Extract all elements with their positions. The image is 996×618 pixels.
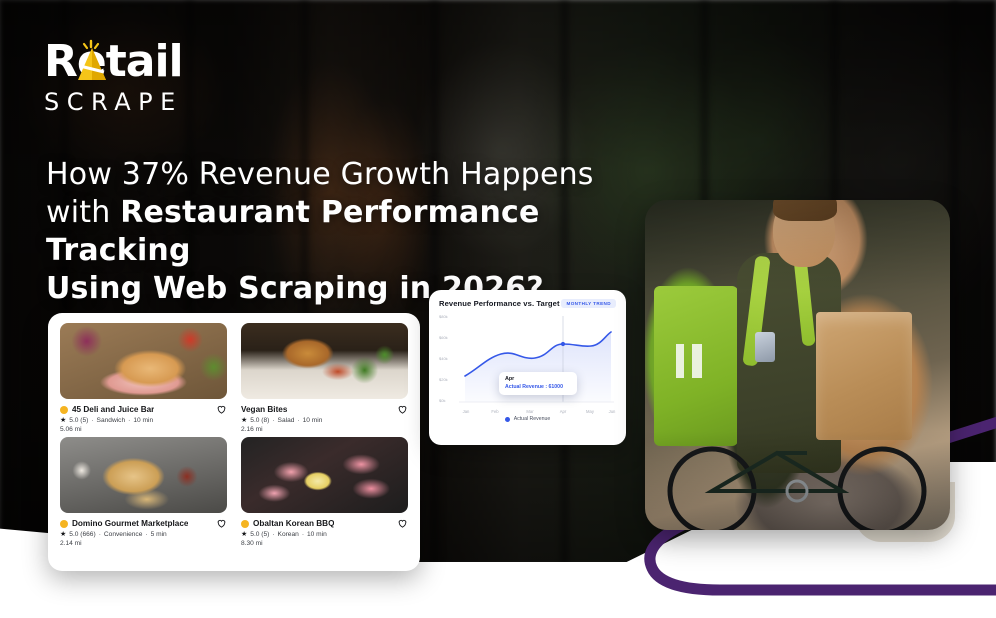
- restaurant-thumbnail: [241, 323, 408, 399]
- y-tick-label: $20k: [439, 377, 448, 382]
- restaurant-name: Obaltan Korean BBQ: [253, 519, 334, 528]
- x-tick-label: Apr: [560, 409, 567, 414]
- verified-badge-icon: [60, 406, 68, 414]
- party-hat-icon: [70, 38, 114, 86]
- x-tick-label: Mar: [526, 409, 533, 414]
- photo-shading: [645, 200, 950, 530]
- restaurant-list-card: 45 Deli and Juice Bar ★ 5.0 (5) · Sandwi…: [48, 313, 420, 571]
- headline-line-2-light: with: [46, 195, 120, 230]
- tooltip-label: Apr: [505, 376, 571, 382]
- restaurant-meta: ★ 5.0 (5) · Korean · 10 min: [241, 531, 408, 538]
- restaurant-name: Domino Gourmet Marketplace: [72, 519, 188, 528]
- restaurant-meta: ★ 5.0 (5) · Sandwich · 10 min: [60, 417, 227, 424]
- star-icon: ★: [60, 417, 66, 424]
- restaurant-eta: 10 min: [307, 531, 327, 538]
- revenue-area-chart: [439, 314, 616, 414]
- x-tick-label: May: [586, 409, 594, 414]
- restaurant-name-wrap: Domino Gourmet Marketplace: [60, 519, 188, 528]
- legend-label: Actual Revenue: [514, 416, 551, 422]
- restaurant-name: 45 Deli and Juice Bar: [72, 405, 154, 414]
- star-icon: ★: [241, 417, 247, 424]
- restaurant-meta: ★ 5.0 (666) · Convenience · 5 min: [60, 531, 227, 538]
- chart-header: Revenue Performance vs. Target MONTHLY T…: [439, 299, 616, 308]
- delivery-courier-photo: [645, 200, 950, 530]
- meta-separator-1: ·: [99, 531, 101, 538]
- restaurant-rating: 5.0 (5): [250, 531, 269, 538]
- restaurant-eta: 10 min: [133, 417, 153, 424]
- list-item[interactable]: Obaltan Korean BBQ ★ 5.0 (5) · Korean · …: [241, 437, 408, 547]
- restaurant-eta: 5 min: [151, 531, 167, 538]
- restaurant-header: Obaltan Korean BBQ: [241, 518, 408, 529]
- meta-separator-2: ·: [145, 531, 147, 538]
- x-tick-label: Feb: [491, 409, 498, 414]
- heart-icon[interactable]: [216, 404, 227, 415]
- restaurant-category: Convenience: [104, 531, 143, 538]
- meta-separator-1: ·: [272, 531, 274, 538]
- chart-plot-area: $80k $60k $40k $20k $0k Jan Feb Mar Apr …: [439, 314, 616, 414]
- restaurant-meta: ★ 5.0 (8) · Salad · 10 min: [241, 417, 408, 424]
- restaurant-category: Korean: [278, 531, 299, 538]
- restaurant-thumbnail: [241, 437, 408, 513]
- legend-dot-icon: [505, 417, 510, 422]
- monthly-trend-badge: MONTHLY TREND: [561, 299, 616, 308]
- headline-line-2-bold: Restaurant Performance Tracking: [46, 195, 540, 268]
- logo-subtitle: SCRAPE: [44, 88, 224, 116]
- verified-badge-icon: [241, 520, 249, 528]
- banner-stage: Retail SCRAPE How 37% Revenue Growth Hap…: [0, 0, 996, 618]
- restaurant-thumbnail: [60, 437, 227, 513]
- headline-line-1: How 37% Revenue Growth Happens: [46, 156, 626, 194]
- list-item[interactable]: Vegan Bites ★ 5.0 (8) · Salad · 10 min 2…: [241, 323, 408, 433]
- star-icon: ★: [60, 531, 66, 538]
- restaurant-rating: 5.0 (5): [69, 417, 88, 424]
- y-tick-label: $60k: [439, 335, 448, 340]
- y-tick-label: $40k: [439, 356, 448, 361]
- meta-separator-2: ·: [297, 417, 299, 424]
- x-tick-label: Jan: [463, 409, 470, 414]
- restaurant-category: Sandwich: [97, 417, 126, 424]
- restaurant-header: Vegan Bites: [241, 404, 408, 415]
- y-tick-label: $80k: [439, 314, 448, 319]
- chart-legend: Actual Revenue: [439, 416, 616, 422]
- restaurant-distance: 8.30 mi: [241, 540, 408, 547]
- chart-title: Revenue Performance vs. Target: [439, 299, 560, 308]
- restaurant-distance: 2.14 mi: [60, 540, 227, 547]
- list-item[interactable]: 45 Deli and Juice Bar ★ 5.0 (5) · Sandwi…: [60, 323, 227, 433]
- restaurant-eta: 10 min: [303, 417, 323, 424]
- x-tick-label: Jun: [609, 409, 616, 414]
- star-icon: ★: [241, 531, 247, 538]
- list-item[interactable]: Domino Gourmet Marketplace ★ 5.0 (666) ·…: [60, 437, 227, 547]
- heart-icon[interactable]: [216, 518, 227, 529]
- verified-badge-icon: [60, 520, 68, 528]
- headline-line-1-text: How 37% Revenue Growth Happens: [46, 157, 594, 192]
- restaurant-header: Domino Gourmet Marketplace: [60, 518, 227, 529]
- restaurant-distance: 2.16 mi: [241, 426, 408, 433]
- restaurant-thumbnail: [60, 323, 227, 399]
- restaurant-rating: 5.0 (666): [69, 531, 95, 538]
- revenue-chart-card: Revenue Performance vs. Target MONTHLY T…: [429, 290, 626, 445]
- logo-wordmark-row: Retail: [44, 36, 224, 88]
- brand-logo[interactable]: Retail SCRAPE: [44, 36, 224, 118]
- heart-icon[interactable]: [397, 404, 408, 415]
- restaurant-rating: 5.0 (8): [250, 417, 269, 424]
- restaurant-category: Salad: [278, 417, 295, 424]
- restaurant-name-wrap: Obaltan Korean BBQ: [241, 519, 334, 528]
- restaurant-grid: 45 Deli and Juice Bar ★ 5.0 (5) · Sandwi…: [60, 323, 408, 547]
- tooltip-value: Actual Revenue : 61000: [505, 384, 571, 390]
- headline-line-2: with Restaurant Performance Tracking: [46, 194, 626, 270]
- meta-separator-1: ·: [91, 417, 93, 424]
- restaurant-name: Vegan Bites: [241, 405, 287, 414]
- restaurant-name-wrap: Vegan Bites: [241, 405, 287, 414]
- restaurant-distance: 5.06 mi: [60, 426, 227, 433]
- restaurant-name-wrap: 45 Deli and Juice Bar: [60, 405, 154, 414]
- meta-separator-2: ·: [302, 531, 304, 538]
- page-title: How 37% Revenue Growth Happens with Rest…: [46, 156, 626, 308]
- y-tick-label: $0k: [439, 398, 445, 403]
- meta-separator-2: ·: [128, 417, 130, 424]
- meta-separator-1: ·: [272, 417, 274, 424]
- heart-icon[interactable]: [397, 518, 408, 529]
- chart-tooltip: Apr Actual Revenue : 61000: [499, 372, 577, 395]
- restaurant-header: 45 Deli and Juice Bar: [60, 404, 227, 415]
